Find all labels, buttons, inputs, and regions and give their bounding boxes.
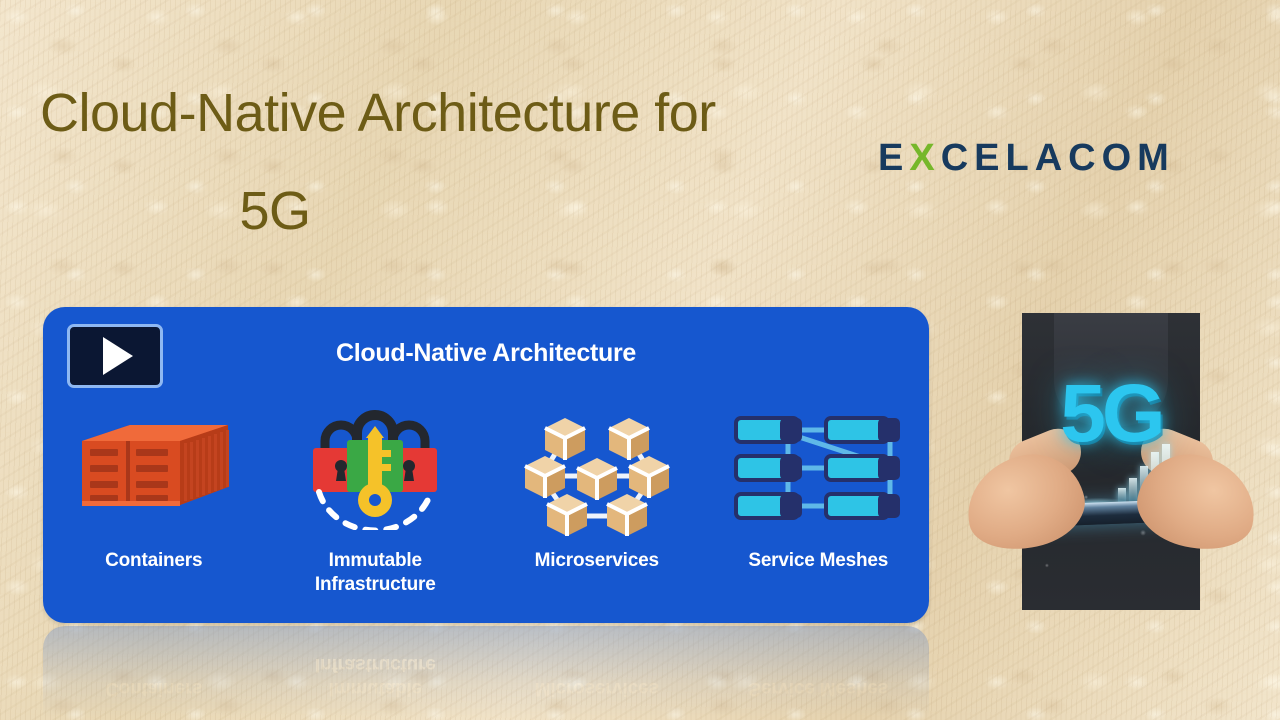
pillar-label-containers: Containers bbox=[105, 549, 202, 573]
padlocks-key-icon bbox=[265, 393, 487, 543]
reflection-column: Immutable Infrastructure bbox=[265, 626, 487, 718]
reflection-column: Containers bbox=[43, 626, 265, 718]
cloud-native-infographic-panel: Cloud-Native Architecture bbox=[43, 307, 929, 623]
slide-canvas: Cloud-Native Architecture for 5G EXCELAC… bbox=[0, 0, 1280, 720]
reflection-surface: Containers Immutable Infrastructure Micr… bbox=[43, 626, 929, 718]
reflection-icon-placeholder bbox=[486, 706, 708, 718]
connected-cubes-icon bbox=[486, 393, 708, 543]
logo-text-part-2: CELACOM bbox=[941, 137, 1175, 179]
pillar-label-microservices: Microservices bbox=[535, 549, 659, 573]
five-g-hologram-text: 5G bbox=[1060, 373, 1161, 455]
reflection-column: Microservices bbox=[486, 626, 708, 718]
reflection-icon-placeholder bbox=[43, 706, 265, 718]
pillar-label-line-1: Immutable bbox=[329, 550, 422, 571]
page-title: Cloud-Native Architecture for 5G bbox=[40, 84, 870, 241]
excelacom-logo: EXCELACOM bbox=[878, 137, 1175, 180]
logo-text-part-1: E bbox=[878, 137, 909, 179]
page-title-line-1: Cloud-Native Architecture for bbox=[40, 84, 870, 142]
page-title-line-2: 5G bbox=[40, 182, 870, 240]
reflection-label-immutable-infrastructure: Immutable Infrastructure bbox=[315, 653, 436, 701]
reflection-column: Service Meshes bbox=[708, 626, 930, 718]
service-mesh-grid-icon bbox=[708, 393, 930, 543]
pillar-columns: Containers bbox=[43, 393, 929, 623]
reflection-icon-placeholder bbox=[265, 706, 487, 718]
reflection-label-microservices: Microservices bbox=[535, 676, 659, 700]
reflection-label-line-2: Infrastructure bbox=[315, 654, 436, 675]
panel-heading: Cloud-Native Architecture bbox=[43, 339, 929, 368]
pillar-label-line-2: Infrastructure bbox=[315, 574, 436, 595]
reflection-label-line-1: Immutable bbox=[329, 678, 422, 699]
pillar-containers: Containers bbox=[43, 393, 265, 623]
panel-reflection: Containers Immutable Infrastructure Micr… bbox=[43, 626, 929, 718]
logo-accent-x: X bbox=[909, 137, 940, 179]
pillar-label-immutable-infrastructure: Immutable Infrastructure bbox=[315, 549, 436, 597]
reflection-columns: Containers Immutable Infrastructure Micr… bbox=[43, 626, 929, 718]
reflection-label-containers: Containers bbox=[105, 676, 202, 700]
pillar-microservices: Microservices bbox=[486, 393, 708, 623]
pillar-service-meshes: Service Meshes bbox=[708, 393, 930, 623]
five-g-hands-photo: 5G bbox=[1022, 313, 1200, 610]
shipping-container-icon bbox=[43, 393, 265, 543]
pillar-immutable-infrastructure: Immutable Infrastructure bbox=[265, 393, 487, 623]
reflection-icon-placeholder bbox=[708, 706, 930, 718]
pillar-label-service-meshes: Service Meshes bbox=[748, 549, 888, 573]
reflection-label-service-meshes: Service Meshes bbox=[748, 676, 888, 700]
